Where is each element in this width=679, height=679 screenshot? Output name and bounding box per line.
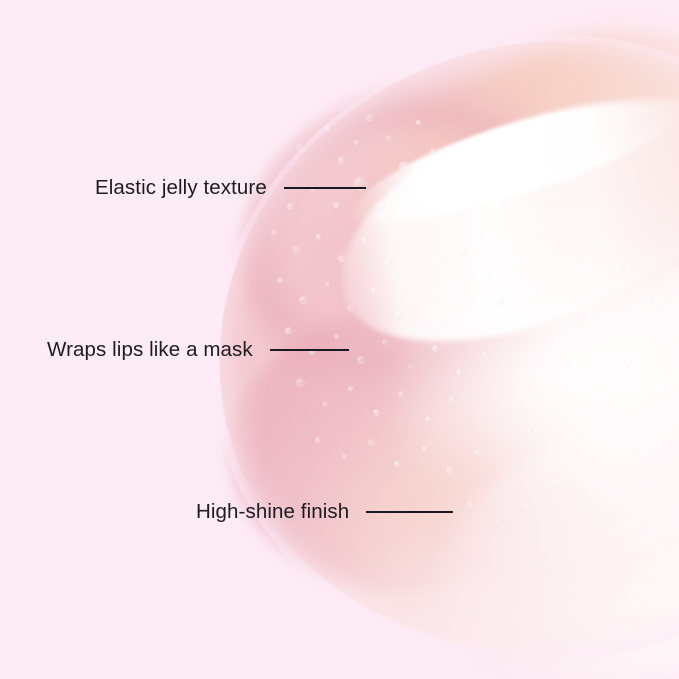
bubble <box>386 135 392 141</box>
bubble <box>492 294 504 306</box>
bubble <box>382 339 388 345</box>
bubble <box>420 294 425 299</box>
bubble <box>377 201 386 210</box>
bubble <box>425 416 430 421</box>
bubble <box>625 359 632 366</box>
annotation-high-shine-finish: High-shine finish <box>196 502 453 523</box>
bubble <box>430 148 437 155</box>
bubble <box>296 143 305 152</box>
bubble <box>324 125 330 131</box>
product-texture-image: Elastic jelly texture Wraps lips like a … <box>0 0 679 679</box>
gel-tail <box>404 375 679 679</box>
bubble <box>519 285 525 291</box>
bubble <box>564 290 569 295</box>
bubble <box>603 417 609 423</box>
bubble <box>496 518 501 523</box>
bubble <box>361 237 367 243</box>
bubble <box>467 299 474 306</box>
bubble <box>607 531 613 537</box>
gel-highlight-crest <box>342 79 678 242</box>
annotation-label: Wraps lips like a mask <box>47 340 253 361</box>
leader-line-icon <box>366 511 453 513</box>
bubble <box>620 266 625 271</box>
bubble <box>347 305 354 312</box>
bubble <box>446 466 454 474</box>
bubble <box>357 356 365 364</box>
bubble <box>580 510 585 515</box>
gel-left-fold <box>210 276 607 613</box>
bubble <box>501 404 506 409</box>
bubble <box>315 437 321 443</box>
bubble <box>523 503 530 510</box>
bubble <box>526 427 533 434</box>
bubble <box>368 439 375 446</box>
bubble <box>371 287 377 293</box>
bubble <box>338 255 345 262</box>
bubble <box>296 378 305 387</box>
bubble <box>432 345 439 352</box>
bubble <box>366 114 374 122</box>
gel-top-rim <box>202 35 670 452</box>
bubble <box>338 157 345 164</box>
bubble <box>492 326 497 331</box>
bubble <box>322 401 328 407</box>
bubble <box>509 252 514 257</box>
bubble <box>334 334 339 339</box>
bubble <box>373 409 380 416</box>
bubble <box>475 421 481 427</box>
gel-highlight-sweep <box>309 53 679 382</box>
leader-line-icon <box>284 187 366 189</box>
bubble <box>551 525 557 531</box>
bubble <box>271 229 277 235</box>
bubble <box>384 258 392 266</box>
annotation-label: Elastic jelly texture <box>95 178 267 199</box>
bubble <box>292 246 301 255</box>
bubble <box>591 241 598 248</box>
bubble <box>598 328 603 333</box>
bubble <box>528 455 535 462</box>
bubble <box>443 317 449 323</box>
bubble <box>456 369 462 375</box>
bubble <box>542 309 549 316</box>
bubble <box>502 474 507 479</box>
bubble <box>474 449 480 455</box>
bubble <box>583 462 588 467</box>
bubble <box>285 327 292 334</box>
bubble <box>555 479 561 485</box>
bubble <box>342 454 347 459</box>
bubble <box>394 461 400 467</box>
annotation-elastic-jelly-texture: Elastic jelly texture <box>95 178 366 199</box>
bubble <box>399 161 410 172</box>
bubble <box>416 120 421 125</box>
annotation-wraps-lips-like-a-mask: Wraps lips like a mask <box>47 340 349 361</box>
bubble <box>348 386 353 391</box>
bubble <box>448 396 456 404</box>
bubble <box>467 501 473 507</box>
gel-right-glow <box>400 200 679 600</box>
bubble <box>410 242 415 247</box>
bubble <box>434 265 440 271</box>
bubble <box>647 297 653 303</box>
bubble <box>333 202 339 208</box>
bubble <box>299 296 307 304</box>
bubble <box>484 272 491 279</box>
leader-line-icon <box>270 349 349 351</box>
gel-lower-warm-tone <box>276 321 655 629</box>
bubble <box>609 193 615 199</box>
bubble <box>482 352 487 357</box>
bubble <box>316 234 321 239</box>
bubble <box>401 187 407 193</box>
bubble <box>325 282 330 287</box>
bubble <box>408 364 413 369</box>
bubble <box>287 203 294 210</box>
bubble <box>422 446 427 451</box>
bubble <box>458 246 467 255</box>
bubble <box>354 140 359 145</box>
bubble <box>394 310 403 319</box>
bubble <box>652 394 657 399</box>
bubble <box>636 228 641 233</box>
bubble <box>398 391 404 397</box>
bubble <box>277 277 283 283</box>
annotation-label: High-shine finish <box>196 502 349 523</box>
